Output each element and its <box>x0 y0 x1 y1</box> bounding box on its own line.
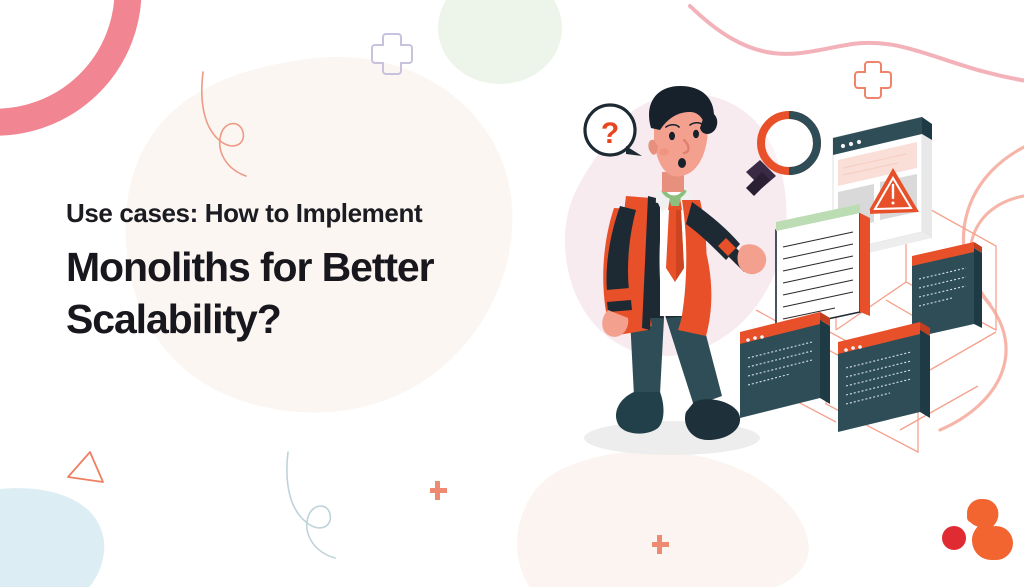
headline-block: Use cases: How to Implement Monoliths fo… <box>66 198 586 345</box>
left-cuff-band2 <box>607 300 632 312</box>
eye-right <box>693 130 699 138</box>
logo-circle-lower <box>979 526 1013 560</box>
right-hand <box>738 244 767 274</box>
window-dot <box>841 144 845 148</box>
left-cuff-band <box>606 288 631 302</box>
window-dot <box>746 338 750 342</box>
document-panel-lined <box>776 204 870 330</box>
mouth <box>678 158 686 168</box>
question-bubble: ? <box>585 105 642 156</box>
code-window-left-lower <box>740 312 830 418</box>
headline-kicker: Use cases: How to Implement <box>66 198 586 229</box>
window-dot <box>844 348 848 352</box>
eye-left <box>669 132 675 140</box>
cheek <box>659 148 669 155</box>
molecule-logo <box>942 499 1013 560</box>
window-dot <box>849 142 853 146</box>
magnifier-lens <box>766 120 812 166</box>
code-window-far-right <box>948 268 988 342</box>
question-mark: ? <box>601 117 619 150</box>
back-shoe <box>616 392 664 434</box>
code-window-center-lower <box>838 322 930 432</box>
logo-circle-upper <box>967 499 995 527</box>
banner: ? Use cases: How to Implement Monoliths … <box>0 0 1024 587</box>
page-title: Monoliths for Better Scalability? <box>66 241 586 345</box>
window-dot <box>753 336 757 340</box>
magnifying-glass <box>746 115 817 196</box>
window-dot <box>857 140 861 144</box>
logo-circle-accent <box>942 526 966 550</box>
lanyard-tag <box>669 197 681 206</box>
window-dot <box>851 346 855 350</box>
window-dot <box>858 345 862 349</box>
window-dot <box>760 335 764 339</box>
